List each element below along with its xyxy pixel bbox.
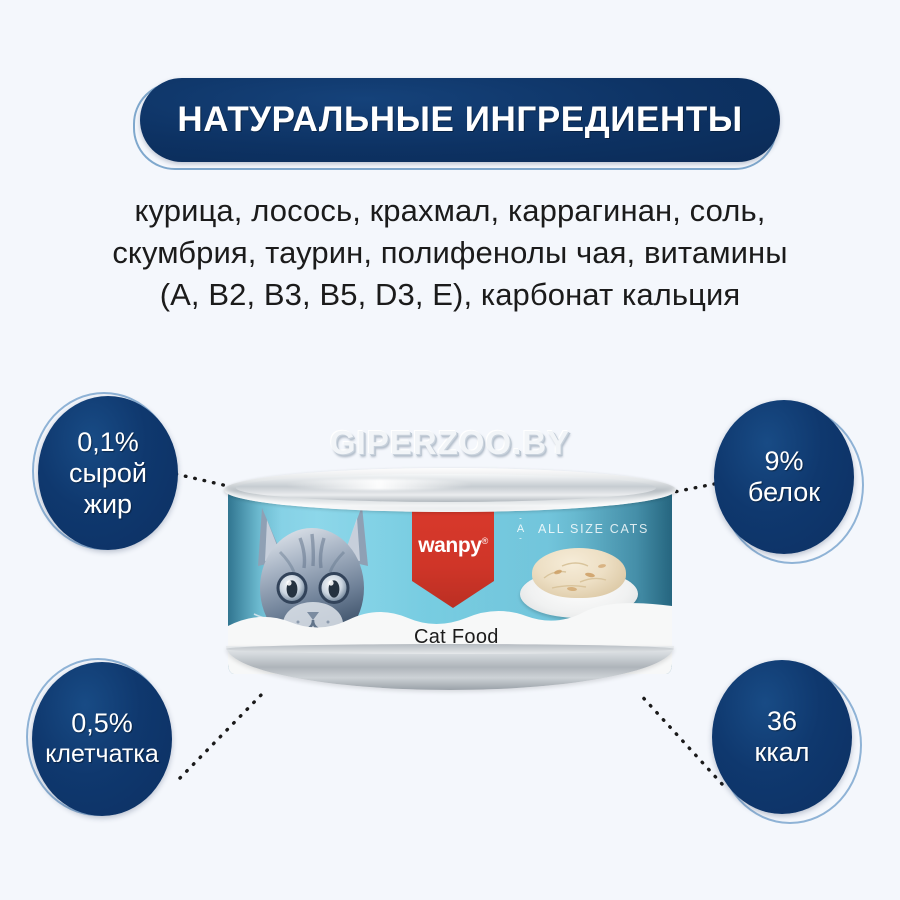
- banner-pill: НАТУРАЛЬНЫЕ ИНГРЕДИЕНТЫ: [140, 78, 780, 162]
- product-can-image: wanpy® A ALL SIZE CATS: [228, 468, 672, 692]
- stat-badge-fiber: 0,5% клетчатка: [26, 658, 172, 818]
- registered-mark-icon: ®: [482, 536, 488, 546]
- badge-label-line1: белок: [748, 477, 820, 508]
- ingredients-line-3: (A, B2, B3, B5, D3, E), карбонат кальция: [50, 274, 850, 316]
- brand-name-text: wanpy: [418, 534, 481, 557]
- badge-label-line2: жир: [84, 489, 132, 520]
- ingredients-line-2: скумбрия, таурин, полифенолы чая, витами…: [50, 232, 850, 274]
- title-banner: НАТУРАЛЬНЫЕ ИНГРЕДИЕНТЫ: [140, 78, 780, 162]
- food-texture: [532, 548, 626, 598]
- brand-shield: wanpy®: [412, 504, 494, 608]
- stat-badge-kcal: 36 ккал: [712, 660, 858, 820]
- can-bottom-rim-edge: [226, 644, 674, 654]
- hexagon-a-icon: A: [510, 518, 531, 539]
- hexagon-letter: A: [510, 518, 531, 539]
- badge-value: 0,1%: [77, 427, 139, 458]
- brand-name: wanpy®: [412, 534, 494, 558]
- badge-disc: 0,1% сырой жир: [38, 396, 178, 550]
- all-size-cats-text: ALL SIZE CATS: [538, 522, 649, 536]
- infographic-canvas: НАТУРАЛЬНЫЕ ИНГРЕДИЕНТЫ курица, лосось, …: [0, 0, 900, 900]
- badge-disc: 9% белок: [714, 400, 854, 554]
- badge-label-line1: клетчатка: [45, 739, 159, 770]
- badge-label-line1: сырой: [69, 458, 147, 489]
- can-top-rim-gloss: [284, 479, 474, 490]
- badge-value: 0,5%: [71, 708, 133, 739]
- all-size-cats-badge: A ALL SIZE CATS: [510, 518, 649, 539]
- stat-badge-protein: 9% белок: [714, 400, 860, 560]
- badge-value: 9%: [764, 446, 803, 477]
- connector-line-fiber: [180, 692, 264, 778]
- connector-line-kcal: [638, 692, 722, 784]
- badge-label-line1: ккал: [755, 737, 810, 768]
- badge-disc: 0,5% клетчатка: [32, 662, 172, 816]
- page-title: НАТУРАЛЬНЫЕ ИНГРЕДИЕНТЫ: [177, 100, 742, 140]
- badge-value: 36: [767, 706, 797, 737]
- badge-disc: 36 ккал: [712, 660, 852, 814]
- can-top-rim: [224, 468, 676, 512]
- ingredients-line-1: курица, лосось, крахмал, каррагинан, сол…: [50, 190, 850, 232]
- ingredients-text: курица, лосось, крахмал, каррагинан, сол…: [50, 190, 850, 316]
- stat-badge-fat: 0,1% сырой жир: [32, 392, 178, 552]
